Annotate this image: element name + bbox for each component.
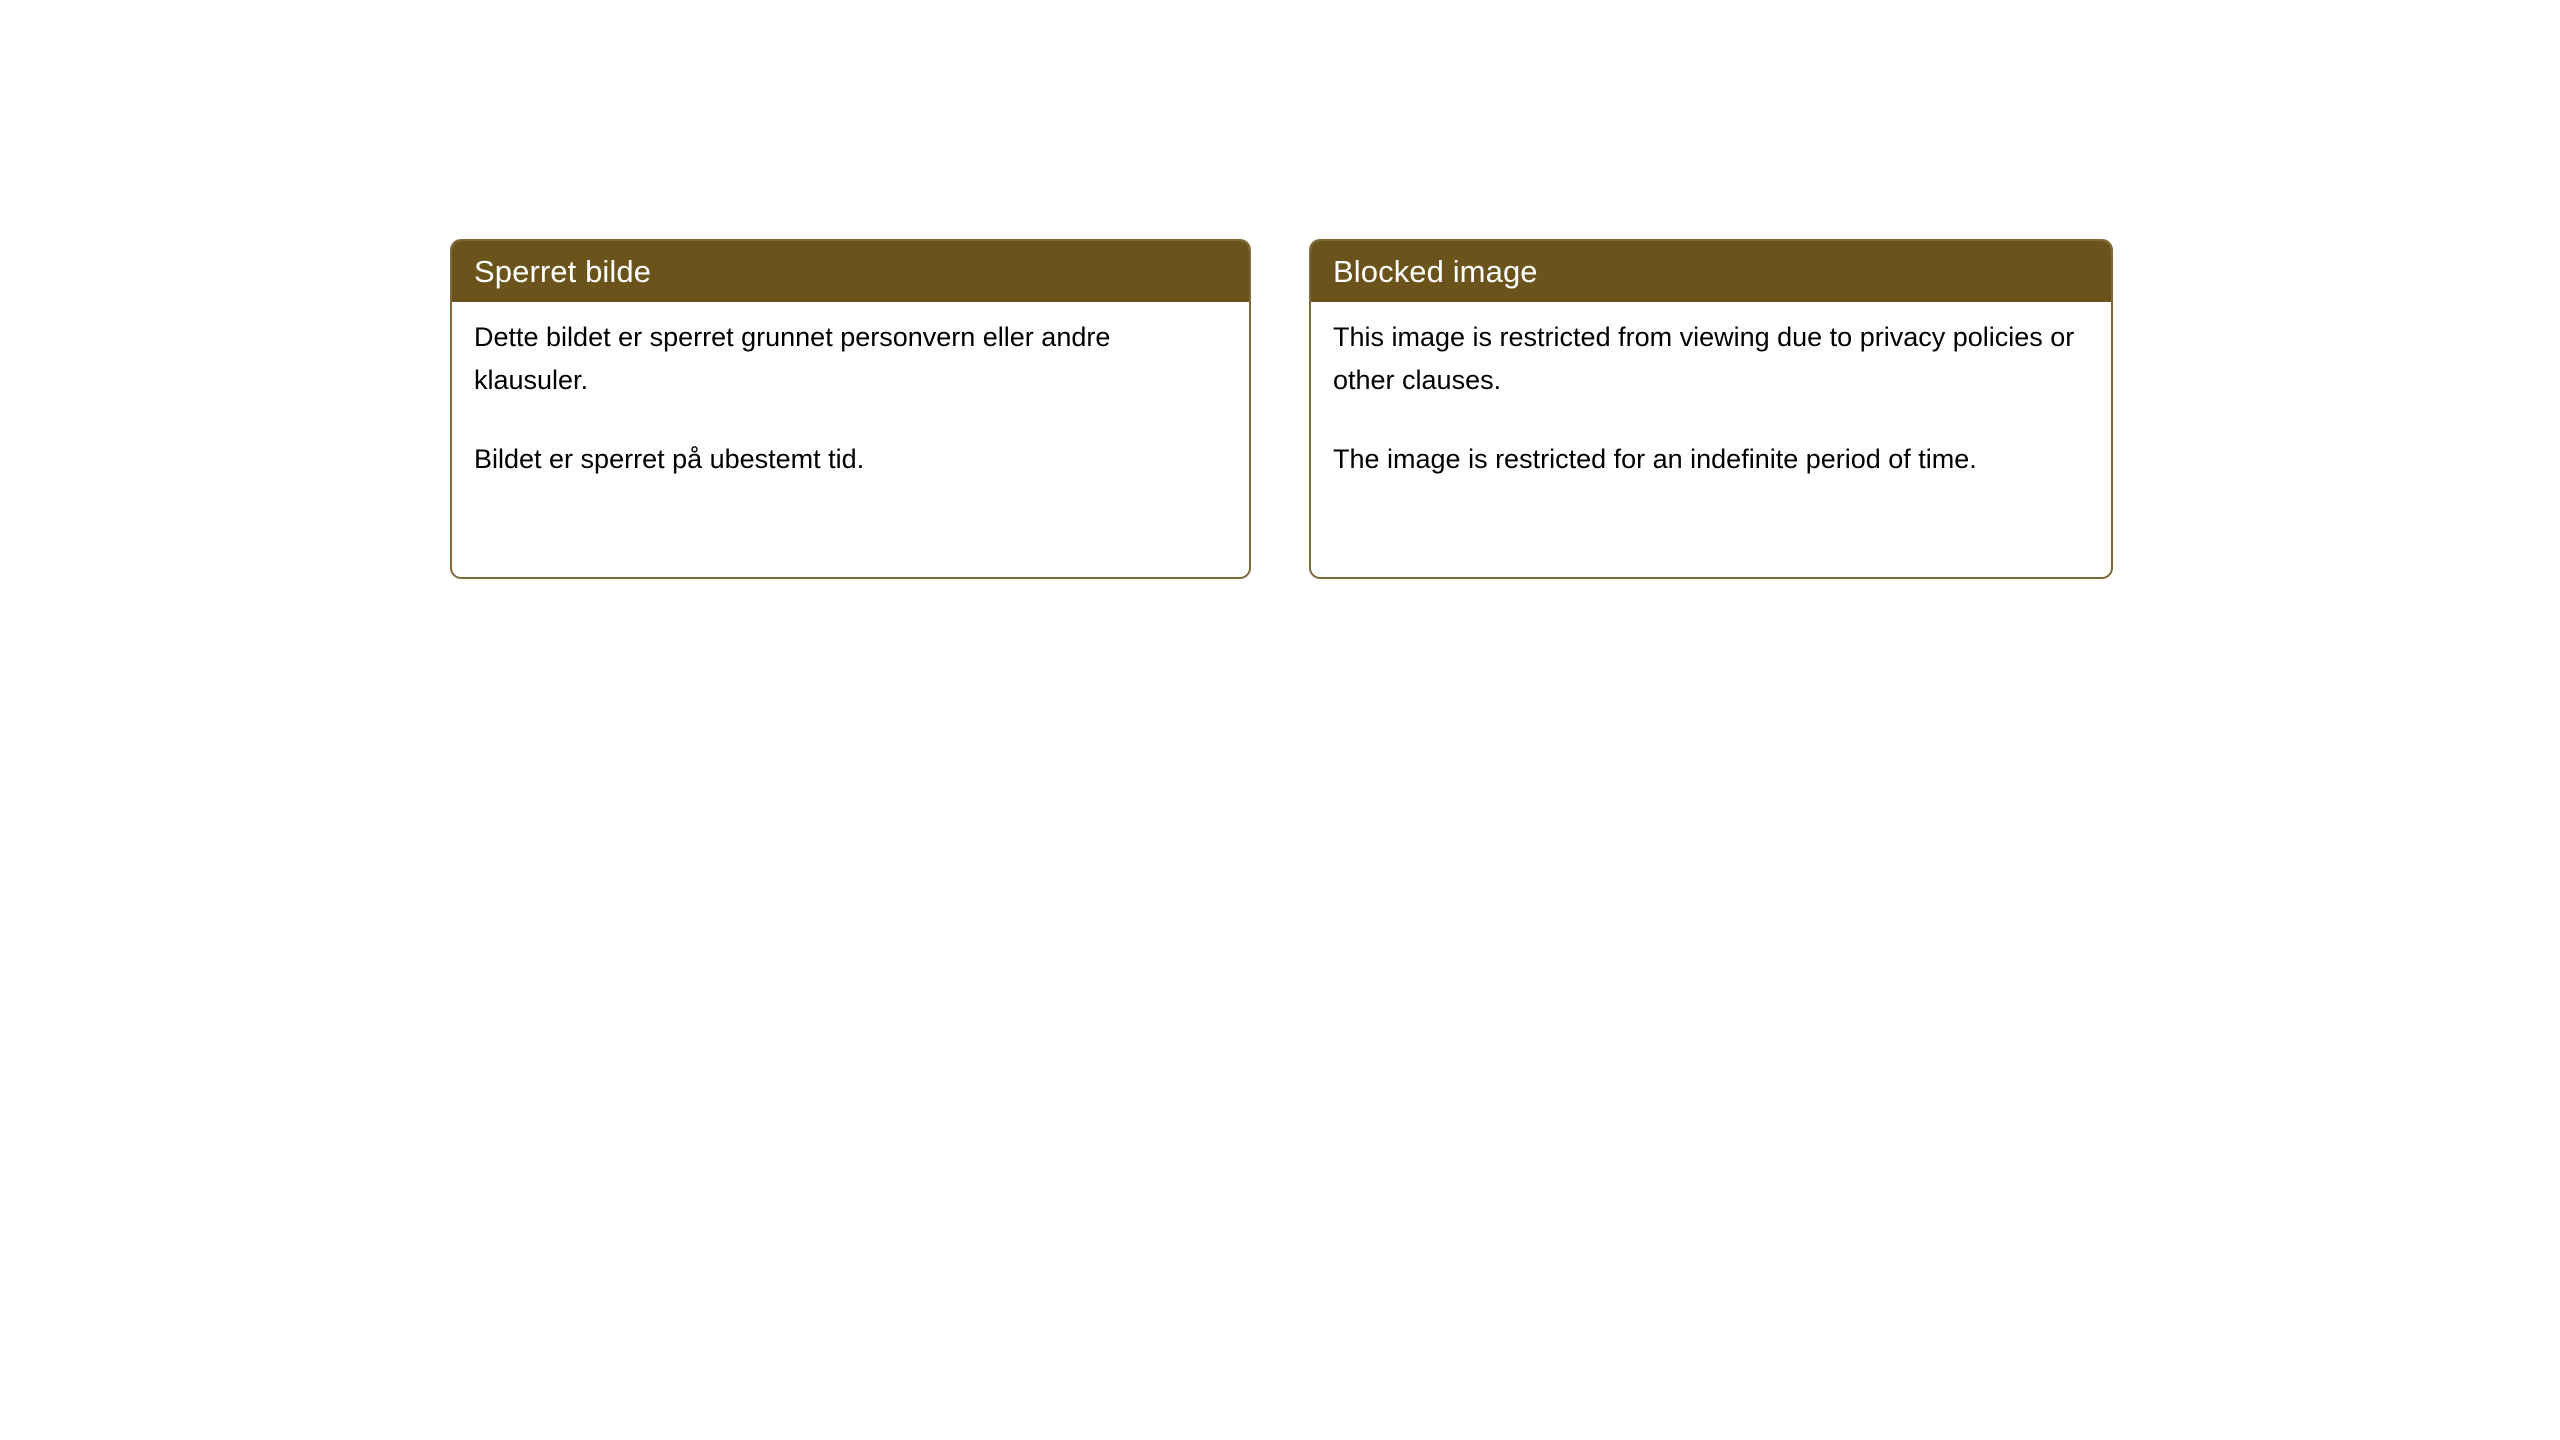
blocked-image-notice-en: Blocked image This image is restricted f… xyxy=(1309,239,2113,579)
notice-body-no: Dette bildet er sperret grunnet personve… xyxy=(452,302,1249,481)
notice-title-en: Blocked image xyxy=(1333,255,1538,289)
notice-header-no: Sperret bilde xyxy=(452,241,1249,302)
notice-title-no: Sperret bilde xyxy=(474,255,651,289)
page-root: Sperret bilde Dette bildet er sperret gr… xyxy=(0,0,2560,1440)
notice-paragraph-duration-no: Bildet er sperret på ubestemt tid. xyxy=(474,438,1229,481)
notice-header-en: Blocked image xyxy=(1311,241,2111,302)
notice-body-en: This image is restricted from viewing du… xyxy=(1311,302,2111,481)
notice-paragraph-reason-no: Dette bildet er sperret grunnet personve… xyxy=(474,316,1229,402)
notice-paragraph-duration-en: The image is restricted for an indefinit… xyxy=(1333,438,2091,481)
blocked-image-notice-no: Sperret bilde Dette bildet er sperret gr… xyxy=(450,239,1251,579)
notice-paragraph-reason-en: This image is restricted from viewing du… xyxy=(1333,316,2091,402)
